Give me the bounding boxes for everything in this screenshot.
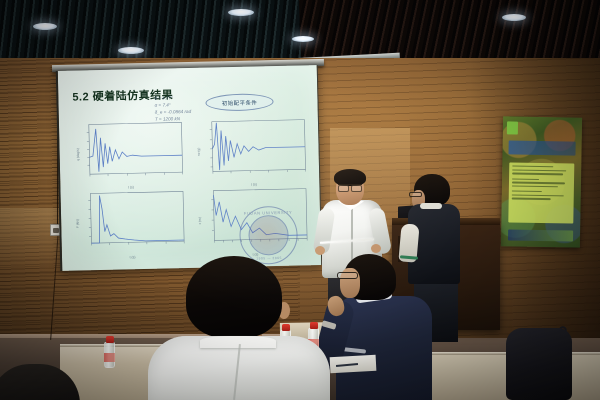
chart-bottom-right-ylabel: x (m) (198, 217, 202, 224)
chart-top-right: nz (g) t (s) (196, 117, 310, 183)
slide-callout-label: 初始配平条件 (222, 98, 258, 107)
poster-footer-band (508, 229, 573, 241)
glasses-icon (338, 184, 362, 189)
chart-bottom-left-svg (75, 189, 189, 255)
chart-top-left: q (deg/s) t (s) (73, 120, 187, 186)
standing-attendee-collar (420, 203, 442, 209)
chart-bottom-left: F (kN) t (s) (75, 189, 189, 255)
ceiling-light-5 (502, 14, 526, 21)
slide-parameter-list: θ = 4.77° α = 7.4° δ_e = -0.0864 rad T =… (154, 94, 191, 123)
seal-top-text: FUDAN UNIVERSITY (240, 210, 296, 216)
slide-callout-ellipse: 初始配平条件 (205, 93, 273, 112)
chart-bottom-left-ylabel: F (kN) (76, 219, 80, 228)
ceiling-light-1 (33, 23, 57, 30)
chart-top-right-svg (196, 117, 310, 183)
ceiling-light-2 (118, 47, 144, 54)
ceiling-light-3 (228, 9, 254, 16)
poster-badge-icon (507, 121, 518, 134)
wall-poster (501, 116, 582, 247)
conference-room-photo: 5.2 硬着陆仿真结果 θ = 4.77° α = 7.4° δ_e = -0.… (0, 0, 600, 400)
poster-headline-band (508, 140, 575, 155)
presenter-right-hand (371, 244, 381, 253)
ceiling-light-4 (292, 36, 314, 42)
chart-top-left-svg (73, 120, 187, 186)
chart-top-right-ylabel: nz (g) (197, 147, 201, 155)
chart-top-left-ylabel: q (deg/s) (76, 148, 80, 161)
projection-screen: 5.2 硬着陆仿真结果 θ = 4.77° α = 7.4° δ_e = -0.… (56, 65, 322, 271)
seal-inner-emblem (248, 215, 289, 256)
glasses-icon (409, 192, 422, 197)
seated-attendee-front-hair (186, 256, 282, 338)
glasses-icon (337, 272, 358, 279)
poster-text-block (508, 162, 574, 223)
university-seal-watermark: FUDAN UNIVERSITY 1905 — 2005 (239, 206, 298, 265)
presenter-left-hand (315, 246, 325, 255)
backpack (506, 328, 572, 400)
